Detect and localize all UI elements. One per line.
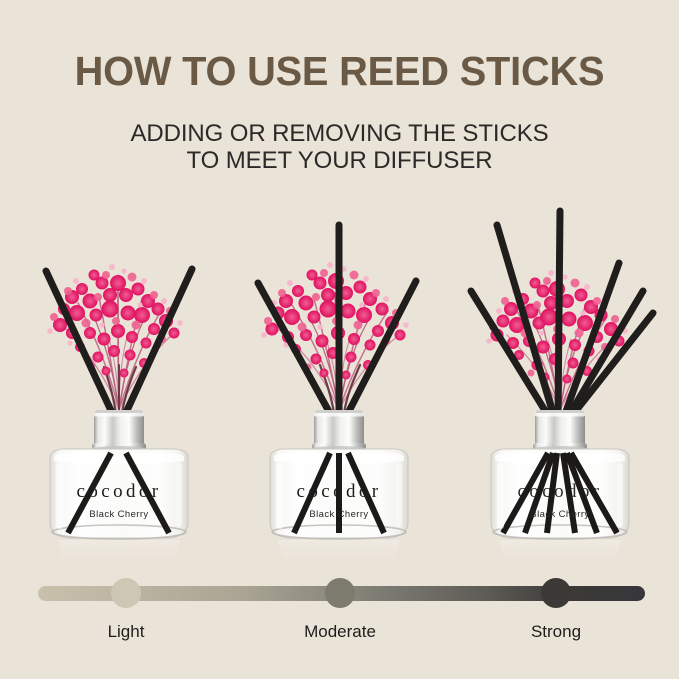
brand-label-moderate: cocodor <box>297 481 382 502</box>
page-subtitle: ADDING OR REMOVING THE STICKS TO MEET YO… <box>0 120 679 174</box>
gauge-label-moderate: Moderate <box>304 622 376 642</box>
infographic-canvas: HOW TO USE REED STICKS ADDING OR REMOVIN… <box>0 0 679 679</box>
gauge-knob-light[interactable] <box>111 578 141 608</box>
intensity-gauge: Light Moderate Strong <box>0 575 679 635</box>
scent-label-moderate: Black Cherry <box>309 509 368 520</box>
gauge-label-row: Light Moderate Strong <box>0 622 679 646</box>
diffuser-strong: cocodor Black Cherry <box>447 205 673 565</box>
brand-label-light: cocodor <box>77 481 162 502</box>
gauge-label-strong: Strong <box>531 622 581 642</box>
diffuser-illustration-moderate: cocodor Black Cherry <box>226 205 452 565</box>
diffuser-moderate: cocodor Black Cherry <box>226 205 452 565</box>
gauge-knob-moderate[interactable] <box>325 578 355 608</box>
page-title: HOW TO USE REED STICKS <box>10 48 669 95</box>
gauge-label-light: Light <box>108 622 145 642</box>
gauge-knob-strong[interactable] <box>541 578 571 608</box>
product-row: cocodor Black Cherry <box>0 205 679 565</box>
brand-label-strong: cocodor <box>518 481 603 502</box>
diffuser-light: cocodor Black Cherry <box>6 205 232 565</box>
diffuser-illustration-strong: cocodor Black Cherry <box>447 205 673 565</box>
diffuser-illustration-light: cocodor Black Cherry <box>6 205 232 565</box>
scent-label-light: Black Cherry <box>89 509 148 520</box>
subtitle-line-1: ADDING OR REMOVING THE STICKS <box>0 120 679 147</box>
subtitle-line-2: TO MEET YOUR DIFFUSER <box>0 147 679 174</box>
scent-label-strong: Black Cherry <box>530 509 589 520</box>
